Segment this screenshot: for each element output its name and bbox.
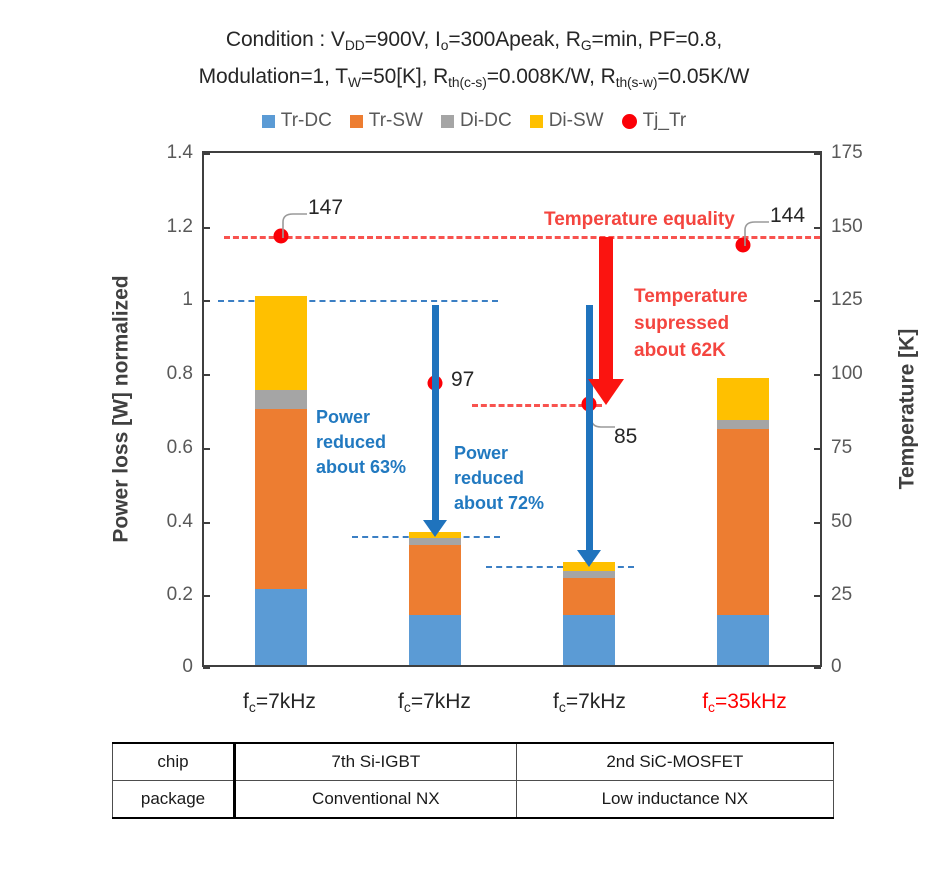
y-axis-tick-label: 0.4	[167, 511, 193, 533]
x-axis-label-2: fc=7kHz	[357, 690, 512, 724]
y-axis-tick	[203, 595, 210, 597]
bar-group-4[interactable]	[717, 378, 769, 666]
y-axis-tick	[203, 448, 210, 450]
legend-label: Di-DC	[460, 110, 512, 132]
y2-axis-tick	[814, 667, 821, 669]
y-axis-tick	[203, 522, 210, 524]
y-axis-tick-label: 1	[182, 289, 193, 311]
bar-group-3[interactable]	[563, 562, 615, 665]
temp-value-label-85: 85	[614, 425, 637, 449]
legend-item-di-dc: Di-DC	[441, 110, 512, 132]
legend-label: Tr-SW	[369, 110, 423, 132]
legend-swatch-icon	[530, 115, 543, 128]
legend-item-tj-tr: Tj_Tr	[622, 110, 687, 132]
annotation-line: about 72%	[454, 491, 544, 516]
y2-axis-tick	[814, 374, 821, 376]
legend-marker-circle-icon	[622, 114, 637, 129]
annotation-line: reduced	[454, 466, 544, 491]
bar-segment-di-sw	[717, 378, 769, 420]
y2-axis-tick	[814, 448, 821, 450]
y-axis-title-text: Power loss [W] normalized	[110, 275, 134, 542]
bar-segment-tr-sw	[255, 409, 307, 590]
chart-plot-area: 1.4 1.2 1 0.8 0.6 0.4 0.2 0 175 150 125 …	[202, 151, 822, 667]
bar-segment-tr-sw	[717, 429, 769, 615]
temp-value-label-144: 144	[770, 204, 805, 228]
legend-swatch-icon	[350, 115, 363, 128]
table-cell-package-2: Low inductance NX	[516, 781, 833, 819]
power-reduction-arrow-1	[423, 305, 447, 537]
condition-title: Condition : VDD=900V, Io=300Apeak, RG=mi…	[0, 24, 948, 98]
table-cell-package-1: Conventional NX	[235, 781, 517, 819]
y2-axis-tick-label: 0	[831, 656, 842, 678]
bar-segment-tr-dc	[563, 615, 615, 665]
legend-item-tr-dc: Tr-DC	[262, 110, 332, 132]
legend-swatch-icon	[441, 115, 454, 128]
legend-label: Di-SW	[549, 110, 604, 132]
temp-value-label-147: 147	[308, 196, 343, 220]
annotation-line: Power	[316, 405, 406, 430]
annotation-temperature-suppressed: Temperature supressed about 62K	[634, 283, 748, 364]
bar-segment-tr-dc	[717, 615, 769, 665]
y2-axis-tick-label: 50	[831, 511, 852, 533]
legend-item-di-sw: Di-SW	[530, 110, 604, 132]
y-axis-tick	[203, 374, 210, 376]
annotation-line: about 62K	[634, 337, 748, 364]
bar-segment-tr-sw	[409, 545, 461, 615]
y-axis-tick-label: 0.2	[167, 584, 193, 606]
y2-axis-tick	[814, 595, 821, 597]
y2-axis-tick-label: 175	[831, 142, 863, 164]
legend-label: Tr-DC	[281, 110, 332, 132]
y2-axis-tick-label: 125	[831, 289, 863, 311]
bar-segment-di-dc	[717, 420, 769, 429]
bar-segment-di-dc	[255, 390, 307, 408]
annotation-line: reduced	[316, 430, 406, 455]
bar-segment-tr-dc	[409, 615, 461, 665]
annotation-temperature-equality: Temperature equality	[544, 206, 735, 233]
bar-group-1[interactable]	[255, 296, 307, 665]
y-axis-title: Power loss [W] normalized	[108, 151, 136, 667]
bar-group-2[interactable]	[409, 532, 461, 665]
y-axis-tick-label: 1.4	[167, 142, 193, 164]
annotation-line: supressed	[634, 310, 748, 337]
legend-label: Tj_Tr	[643, 110, 687, 132]
table-row-header-package: package	[113, 781, 235, 819]
annotation-power-reduced-72: Power reduced about 72%	[454, 441, 544, 516]
y-axis-tick-label: 0.6	[167, 437, 193, 459]
bar-segment-di-dc	[563, 571, 615, 578]
bar-segment-di-dc	[409, 538, 461, 545]
y2-axis-tick	[814, 227, 821, 229]
x-axis-label-1: fc=7kHz	[202, 690, 357, 724]
y2-axis-tick	[814, 300, 821, 302]
bar-segment-tr-sw	[563, 578, 615, 615]
y-axis-tick	[203, 667, 210, 669]
y2-axis-tick-label: 150	[831, 216, 863, 238]
condition-line-2: Modulation=1, TW=50[K], Rth(c-s)=0.008K/…	[0, 61, 948, 98]
y-axis-tick	[203, 153, 210, 155]
x-axis-labels: fc=7kHz fc=7kHz fc=7kHz fc=35kHz	[202, 690, 822, 724]
y2-axis-tick	[814, 153, 821, 155]
x-axis-label-3: fc=7kHz	[512, 690, 667, 724]
y2-axis-title: Temperature [K]	[893, 151, 921, 667]
y2-axis-tick	[814, 522, 821, 524]
y2-axis-title-text: Temperature [K]	[895, 329, 919, 490]
table-row-package: package Conventional NX Low inductance N…	[113, 781, 834, 819]
table-cell-chip-1: 7th Si-IGBT	[235, 743, 517, 781]
y2-axis-tick-label: 25	[831, 584, 852, 606]
y-axis-tick-label: 1.2	[167, 216, 193, 238]
y-axis-tick	[203, 227, 210, 229]
spec-table: chip 7th Si-IGBT 2nd SiC-MOSFET package …	[112, 742, 834, 819]
legend-item-tr-sw: Tr-SW	[350, 110, 423, 132]
bar-segment-tr-dc	[255, 589, 307, 665]
y2-axis-tick-label: 75	[831, 437, 852, 459]
annotation-line: Power	[454, 441, 544, 466]
table-row-header-chip: chip	[113, 743, 235, 781]
table-cell-chip-2: 2nd SiC-MOSFET	[516, 743, 833, 781]
chart-legend: Tr-DC Tr-SW Di-DC Di-SW Tj_Tr	[0, 110, 948, 132]
legend-swatch-icon	[262, 115, 275, 128]
temp-value-label-97: 97	[451, 368, 474, 392]
temperature-suppressed-arrow	[588, 237, 624, 405]
y-axis-tick-label: 0.8	[167, 363, 193, 385]
y-axis-tick-label: 0	[182, 656, 193, 678]
table-row-chip: chip 7th Si-IGBT 2nd SiC-MOSFET	[113, 743, 834, 781]
y2-axis-tick-label: 100	[831, 363, 863, 385]
y-axis-tick	[203, 300, 210, 302]
bar-segment-di-sw	[255, 296, 307, 390]
condition-line-1: Condition : VDD=900V, Io=300Apeak, RG=mi…	[0, 24, 948, 61]
annotation-power-reduced-63: Power reduced about 63%	[316, 405, 406, 480]
annotation-line: about 63%	[316, 455, 406, 480]
x-axis-label-4: fc=35kHz	[667, 690, 822, 724]
annotation-line: Temperature	[634, 283, 748, 310]
